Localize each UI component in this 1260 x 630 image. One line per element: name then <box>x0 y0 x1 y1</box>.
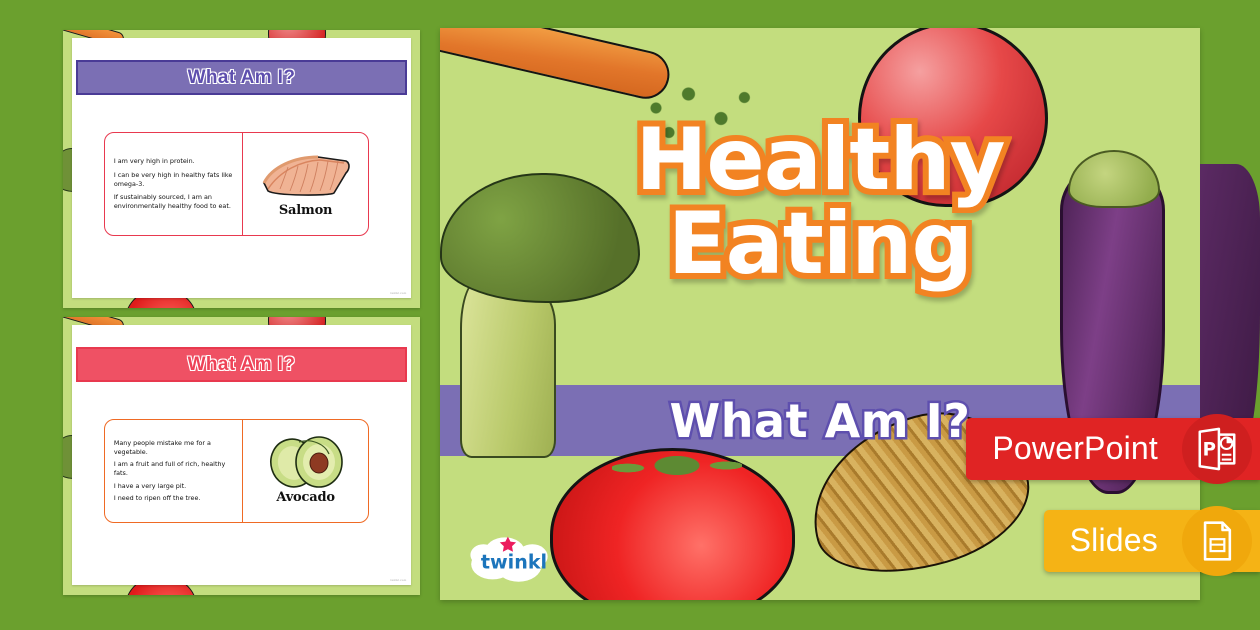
badge-powerpoint-label: PowerPoint <box>966 420 1180 479</box>
twinkl-wordmark: twinkl <box>481 551 547 574</box>
clue-item: I am very high in protein. <box>114 157 236 166</box>
clue-item: I can be very high in healthy fats like … <box>114 171 236 188</box>
google-slides-icon <box>1195 519 1239 563</box>
badge-slides[interactable]: Slides <box>1044 510 1260 572</box>
slide-header-what-am-i: What Am I? <box>76 347 406 382</box>
badge-slides-label: Slides <box>1044 512 1180 571</box>
avocado-icon <box>263 436 349 488</box>
clue-answer-box: I am very high in protein. I can be very… <box>104 132 369 236</box>
answer-label: Avocado <box>276 490 334 505</box>
tomato-icon <box>550 448 795 600</box>
slide-header-what-am-i: What Am I? <box>76 60 406 95</box>
answer-label: Salmon <box>279 203 332 218</box>
powerpoint-icon-circle: P <box>1182 414 1252 484</box>
slides-icon-circle <box>1182 506 1252 576</box>
twinkl-logo[interactable]: twinkl <box>468 532 560 584</box>
clue-list: Many people mistake me for a vegetable. … <box>105 420 242 522</box>
slide-canvas: What Am I? I am very high in protein. I … <box>72 38 412 298</box>
answer-panel: Avocado <box>243 420 368 522</box>
slide-thumbnail-salmon[interactable]: What Am I? I am very high in protein. I … <box>63 30 420 308</box>
clue-list: I am very high in protein. I can be very… <box>105 133 242 235</box>
slide-canvas: What Am I? Many people mistake me for a … <box>72 325 412 585</box>
powerpoint-icon: P <box>1194 426 1240 472</box>
carrot-icon <box>440 28 674 104</box>
twinkl-watermark: twinkl.com <box>390 291 406 295</box>
hero-title-block: Healthy Eating <box>440 118 1200 287</box>
clue-item: I need to ripen off the tree. <box>114 494 236 503</box>
resource-preview-stage: What Am I? I am very high in protein. I … <box>0 0 1260 630</box>
badge-powerpoint[interactable]: PowerPoint P <box>966 418 1260 480</box>
clue-item: If sustainably sourced, I am an environm… <box>114 193 236 210</box>
clue-item: I have a very large pit. <box>114 482 236 491</box>
answer-panel: Salmon <box>243 133 368 235</box>
salmon-fillet-icon <box>260 149 352 201</box>
hero-title-line-2: Eating <box>440 202 1200 286</box>
twinkl-watermark: twinkl.com <box>390 578 406 582</box>
slide-thumbnail-avocado[interactable]: What Am I? Many people mistake me for a … <box>63 317 420 595</box>
hero-title-line-1: Healthy <box>440 118 1200 202</box>
clue-item: I am a fruit and full of rich, healthy f… <box>114 460 236 477</box>
clue-item: Many people mistake me for a vegetable. <box>114 439 236 456</box>
svg-text:P: P <box>1203 440 1216 461</box>
clue-answer-box: Many people mistake me for a vegetable. … <box>104 419 369 523</box>
